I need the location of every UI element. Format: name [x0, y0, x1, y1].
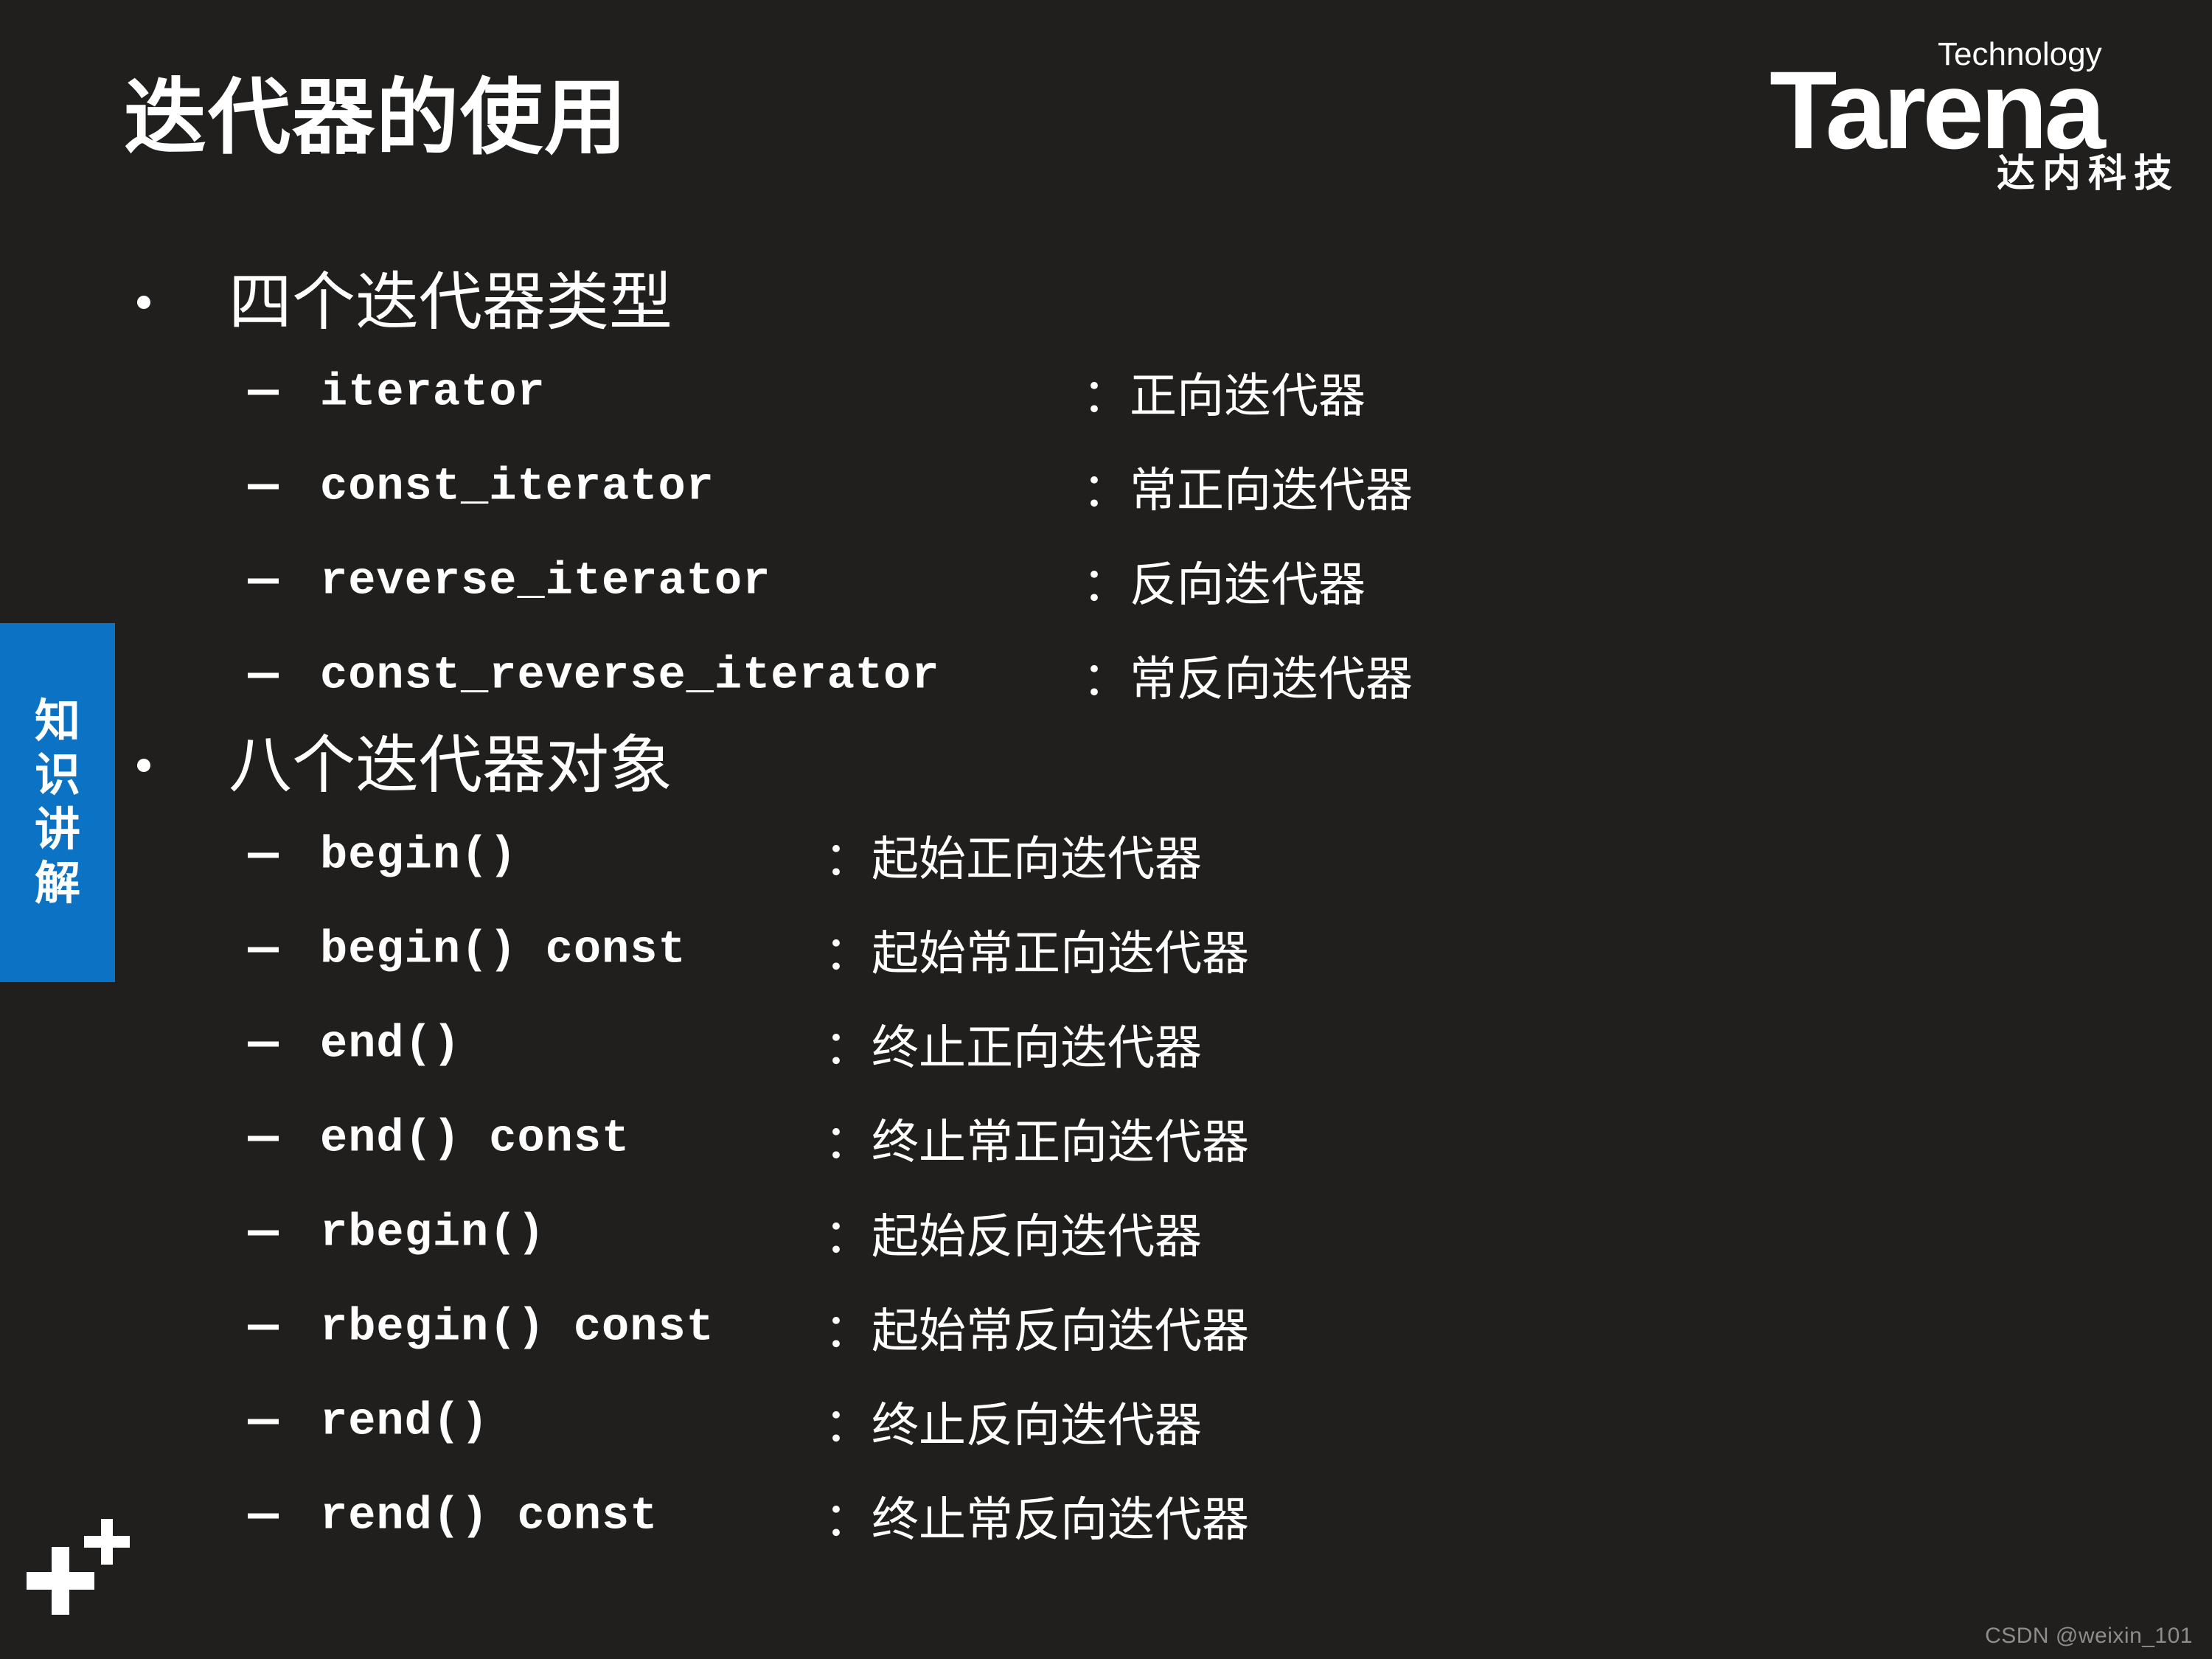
section-heading-1-label: 四个迭代器类型: [229, 271, 672, 334]
dash-marker-icon: [248, 1136, 279, 1141]
dash-marker-icon: [248, 1042, 279, 1047]
item-code: const_reverse_iterator: [320, 650, 940, 702]
plus-decoration: [13, 1519, 109, 1615]
plus-small-icon: [84, 1519, 130, 1565]
dash-marker-icon: [248, 579, 279, 584]
item-desc: ：起始常反向迭代器: [824, 1293, 1249, 1361]
item-code: rbegin(): [320, 1207, 546, 1259]
section-heading-2: 八个迭代器对象: [0, 723, 2212, 808]
item-desc: ：终止正向迭代器: [824, 1010, 1202, 1078]
item-code: rend(): [320, 1396, 489, 1448]
item-desc: ：常正向迭代器: [1082, 453, 1413, 521]
dash-marker-icon: [248, 1325, 279, 1330]
item-code: reverse_iterator: [320, 555, 771, 608]
dash-marker-icon: [248, 947, 279, 953]
item-code: end() const: [320, 1113, 630, 1165]
list-item: const_iterator ：常正向迭代器: [0, 439, 2212, 534]
item-desc: ：常反向迭代器: [1082, 641, 1413, 709]
brand-name-cn-label: 达内科技: [1997, 155, 2180, 193]
list-item: begin() ：起始正向迭代器: [0, 808, 2212, 902]
item-code: begin() const: [320, 924, 686, 976]
item-desc: ：起始正向迭代器: [824, 821, 1202, 889]
item-code: end(): [320, 1018, 461, 1071]
list-item: const_reverse_iterator ：常反向迭代器: [0, 628, 2212, 723]
dash-marker-icon: [248, 1419, 279, 1425]
item-code: begin(): [320, 829, 517, 882]
item-code: rend() const: [320, 1490, 658, 1543]
list-item: rend() const ：终止常反向迭代器: [0, 1469, 2212, 1563]
item-desc: ：正向迭代器: [1082, 358, 1366, 426]
item-desc: ：终止反向迭代器: [824, 1388, 1202, 1455]
dash-marker-icon: [248, 853, 279, 858]
item-desc: ：起始反向迭代器: [824, 1199, 1202, 1267]
item-code: const_iterator: [320, 461, 714, 513]
list-item: end() const ：终止常正向迭代器: [0, 1091, 2212, 1186]
list-item: begin() const ：起始常正向迭代器: [0, 902, 2212, 997]
item-desc: ：反向迭代器: [1082, 547, 1366, 615]
tarena-logo: Technology Tarena 达内科技: [1770, 38, 2183, 197]
brand-name-label: Tarena: [1770, 55, 2102, 165]
dash-marker-icon: [248, 1231, 279, 1236]
list-item: iterator ：正向迭代器: [0, 345, 2212, 439]
page-title: 迭代器的使用: [124, 72, 628, 163]
dash-marker-icon: [248, 1514, 279, 1519]
section-heading-2-label: 八个迭代器对象: [229, 734, 672, 797]
list-item: reverse_iterator ：反向迭代器: [0, 534, 2212, 628]
item-desc: ：终止常正向迭代器: [824, 1105, 1249, 1172]
list-item: rend() ：终止反向迭代器: [0, 1374, 2212, 1469]
slide-canvas: 迭代器的使用 Technology Tarena 达内科技 知 识 讲 解 四个…: [0, 0, 2212, 1659]
list-item: end() ：终止正向迭代器: [0, 997, 2212, 1091]
section-heading-1: 四个迭代器类型: [0, 260, 2212, 345]
bullet-dot-icon: [137, 296, 150, 309]
list-item: rbegin() const ：起始常反向迭代器: [0, 1280, 2212, 1374]
dash-marker-icon: [248, 390, 279, 395]
dash-marker-icon: [248, 484, 279, 490]
item-code: rbegin() const: [320, 1301, 714, 1354]
slide-content: 四个迭代器类型 iterator ：正向迭代器 const_iterator ：…: [0, 260, 2212, 1563]
item-code: iterator: [320, 366, 546, 419]
bullet-dot-icon: [137, 759, 150, 772]
dash-marker-icon: [248, 673, 279, 678]
list-item: rbegin() ：起始反向迭代器: [0, 1186, 2212, 1280]
item-desc: ：终止常反向迭代器: [824, 1482, 1249, 1550]
item-desc: ：起始常正向迭代器: [824, 916, 1249, 984]
watermark-label: CSDN @weixin_101: [1985, 1624, 2193, 1649]
